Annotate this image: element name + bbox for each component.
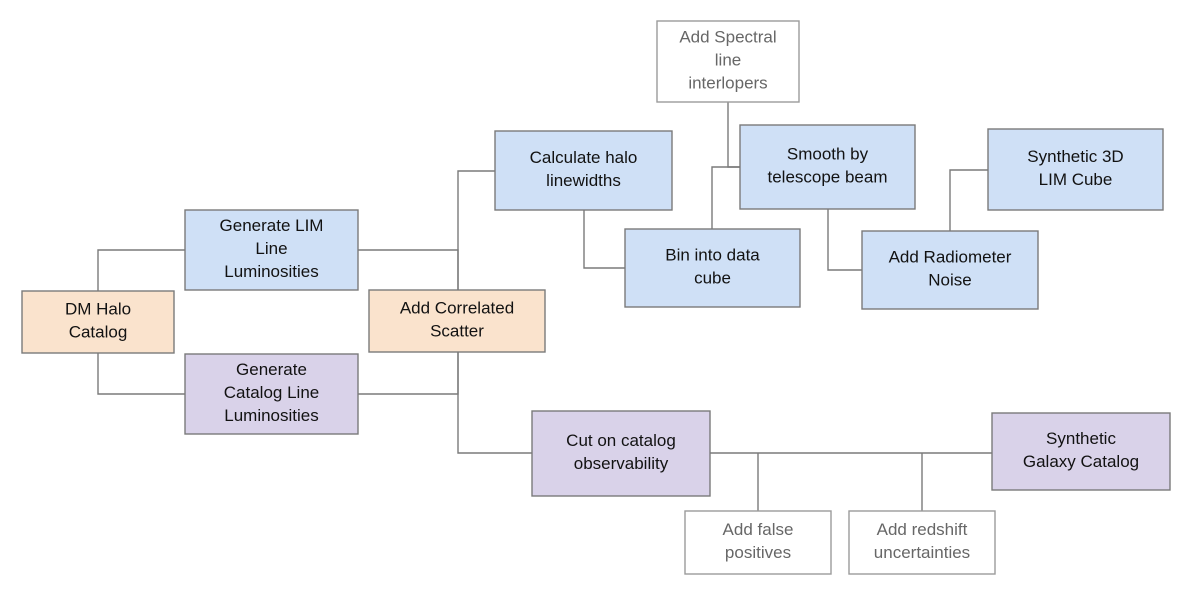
node-add-false-positives[interactable]: Add falsepositives (685, 511, 831, 574)
node-cut-on-catalog-observability[interactable]: Cut on catalogobservability (532, 411, 710, 496)
node-box-synthetic-galaxy-catalog[interactable] (992, 413, 1170, 490)
connector-add-radiometer-noise-to-synthetic-3d-lim-cube (950, 170, 988, 231)
node-box-synthetic-3d-lim-cube[interactable] (988, 129, 1163, 210)
node-add-redshift-uncertainties[interactable]: Add redshiftuncertainties (849, 511, 995, 574)
connector-add-correlated-scatter-to-calculate-halo-linewidths (458, 171, 495, 290)
node-smooth-by-telescope-beam[interactable]: Smooth bytelescope beam (740, 125, 915, 209)
node-box-calculate-halo-linewidths[interactable] (495, 131, 672, 210)
flowchart-svg: DM HaloCatalogGenerate LIMLineLuminositi… (0, 0, 1200, 597)
node-box-add-redshift-uncertainties[interactable] (849, 511, 995, 574)
node-generate-lim-line-luminosities[interactable]: Generate LIMLineLuminosities (185, 210, 358, 290)
node-generate-catalog-line-luminosities[interactable]: GenerateCatalog LineLuminosities (185, 354, 358, 434)
node-box-add-correlated-scatter[interactable] (369, 290, 545, 352)
node-bin-into-data-cube[interactable]: Bin into datacube (625, 229, 800, 307)
node-box-generate-catalog-line-luminosities[interactable] (185, 354, 358, 434)
node-calculate-halo-linewidths[interactable]: Calculate halolinewidths (495, 131, 672, 210)
node-synthetic-galaxy-catalog[interactable]: SyntheticGalaxy Catalog (992, 413, 1170, 490)
connector-dm-halo-catalog-to-generate-lim-line-luminosities (98, 250, 185, 291)
nodes-layer: DM HaloCatalogGenerate LIMLineLuminositi… (22, 21, 1170, 574)
node-box-add-false-positives[interactable] (685, 511, 831, 574)
connector-add-spectral-line-interlopers-to-smooth-by-telescope-beam (728, 102, 740, 167)
connector-calculate-halo-linewidths-to-bin-into-data-cube (584, 210, 625, 268)
connector-smooth-by-telescope-beam-to-add-radiometer-noise (828, 209, 862, 270)
node-box-generate-lim-line-luminosities[interactable] (185, 210, 358, 290)
node-box-dm-halo-catalog[interactable] (22, 291, 174, 353)
node-box-bin-into-data-cube[interactable] (625, 229, 800, 307)
connector-dm-halo-catalog-to-generate-catalog-line-luminosities (98, 353, 185, 394)
connector-add-correlated-scatter-to-cut-on-catalog-observability (458, 352, 532, 453)
node-add-spectral-line-interlopers[interactable]: Add Spectrallineinterlopers (657, 21, 799, 102)
node-add-radiometer-noise[interactable]: Add RadiometerNoise (862, 231, 1038, 309)
flowchart-canvas: DM HaloCatalogGenerate LIMLineLuminositi… (0, 0, 1200, 597)
node-box-cut-on-catalog-observability[interactable] (532, 411, 710, 496)
node-synthetic-3d-lim-cube[interactable]: Synthetic 3DLIM Cube (988, 129, 1163, 210)
node-add-correlated-scatter[interactable]: Add CorrelatedScatter (369, 290, 545, 352)
node-box-smooth-by-telescope-beam[interactable] (740, 125, 915, 209)
node-dm-halo-catalog[interactable]: DM HaloCatalog (22, 291, 174, 353)
node-box-add-spectral-line-interlopers[interactable] (657, 21, 799, 102)
connector-generate-catalog-line-luminosities-to-add-correlated-scatter (358, 352, 458, 394)
node-box-add-radiometer-noise[interactable] (862, 231, 1038, 309)
